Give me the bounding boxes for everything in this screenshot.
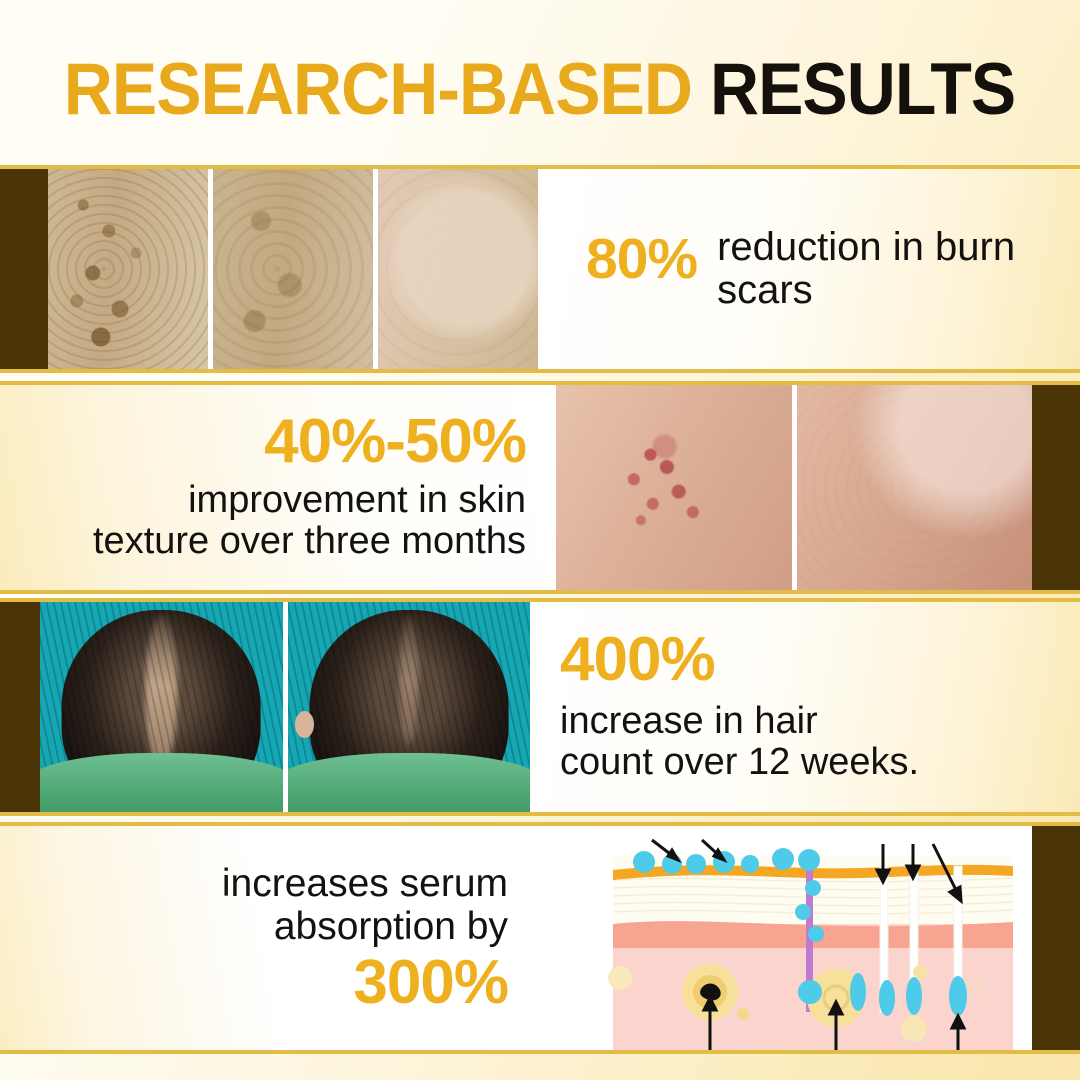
- hair-count-caption-line-2: count over 12 weeks.: [560, 742, 1080, 783]
- burn-scar-progress-photo: [213, 169, 373, 369]
- skin-texture-caption-line-1: improvement in skin: [0, 480, 526, 521]
- header: RESEARCH-BASED RESULTS: [0, 0, 1080, 165]
- row-rule-bottom: [0, 1050, 1080, 1054]
- row-endcap-left: [0, 169, 48, 369]
- stat-row-skin-texture: 40%-50% improvement in skin texture over…: [0, 381, 1080, 594]
- burn-scar-text-panel: 80% reduction in burn scars: [538, 169, 1080, 369]
- row-rule-bottom: [0, 590, 1080, 594]
- scalp-photo-strip: [40, 602, 530, 812]
- patient-gown: [288, 753, 531, 812]
- skin-layers-svg: [558, 826, 1032, 1050]
- hair-count-stat-value: 400%: [560, 631, 1080, 690]
- acne-photo-strip: [556, 385, 1032, 590]
- scalp-before-photo: [40, 602, 283, 812]
- row-endcap-right: [1032, 826, 1080, 1050]
- serum-absorption-stat-block: increases serum absorption by 300%: [0, 863, 558, 1012]
- serum-absorption-text-panel: increases serum absorption by 300%: [0, 826, 558, 1050]
- serum-absorption-caption-line-2: absorption by: [0, 906, 508, 948]
- page-title-rest: RESULTS: [692, 49, 1015, 130]
- row-rule-bottom: [0, 812, 1080, 816]
- row-endcap-right: [1032, 385, 1080, 590]
- scalp-after-photo: [288, 602, 531, 812]
- acne-after-photo: [797, 385, 1033, 590]
- serum-absorption-stat-value: 300%: [0, 954, 508, 1013]
- acne-before-photo: [556, 385, 792, 590]
- page-title: RESEARCH-BASED RESULTS: [64, 53, 1015, 126]
- burn-scar-stat-value: 80%: [586, 226, 697, 286]
- skin-texture-caption-line-2: texture over three months: [0, 521, 526, 562]
- skin-texture-stat-value: 40%-50%: [0, 413, 526, 472]
- stat-row-hair-count: 400% increase in hair count over 12 week…: [0, 598, 1080, 816]
- row-rule-bottom: [0, 369, 1080, 373]
- hair-count-caption-line-1: increase in hair: [560, 701, 1080, 742]
- patient-gown: [40, 753, 283, 812]
- skin-texture-text-panel: 40%-50% improvement in skin texture over…: [0, 385, 556, 590]
- skin-texture-stat-block: 40%-50% improvement in skin texture over…: [0, 413, 556, 562]
- burn-scar-after-photo: [378, 169, 538, 369]
- stat-row-burn-scars: 80% reduction in burn scars: [0, 165, 1080, 373]
- stat-row-serum-absorption: increases serum absorption by 300%: [0, 822, 1080, 1054]
- hair-count-stat-block: 400% increase in hair count over 12 week…: [530, 631, 1080, 784]
- skin-cross-section-diagram: [558, 826, 1032, 1050]
- infographic-page: RESEARCH-BASED RESULTS 80% reduction in …: [0, 0, 1080, 1080]
- burn-scar-stat-caption: reduction in burn scars: [697, 226, 1017, 312]
- hair-count-text-panel: 400% increase in hair count over 12 week…: [530, 602, 1080, 812]
- serum-absorption-caption-line-1: increases serum: [0, 863, 508, 905]
- burn-scar-before-photo: [48, 169, 208, 369]
- page-title-highlight: RESEARCH-BASED: [64, 49, 692, 130]
- burn-scar-stat-block: 80% reduction in burn scars: [538, 226, 1080, 312]
- burn-scar-photo-strip: [48, 169, 538, 369]
